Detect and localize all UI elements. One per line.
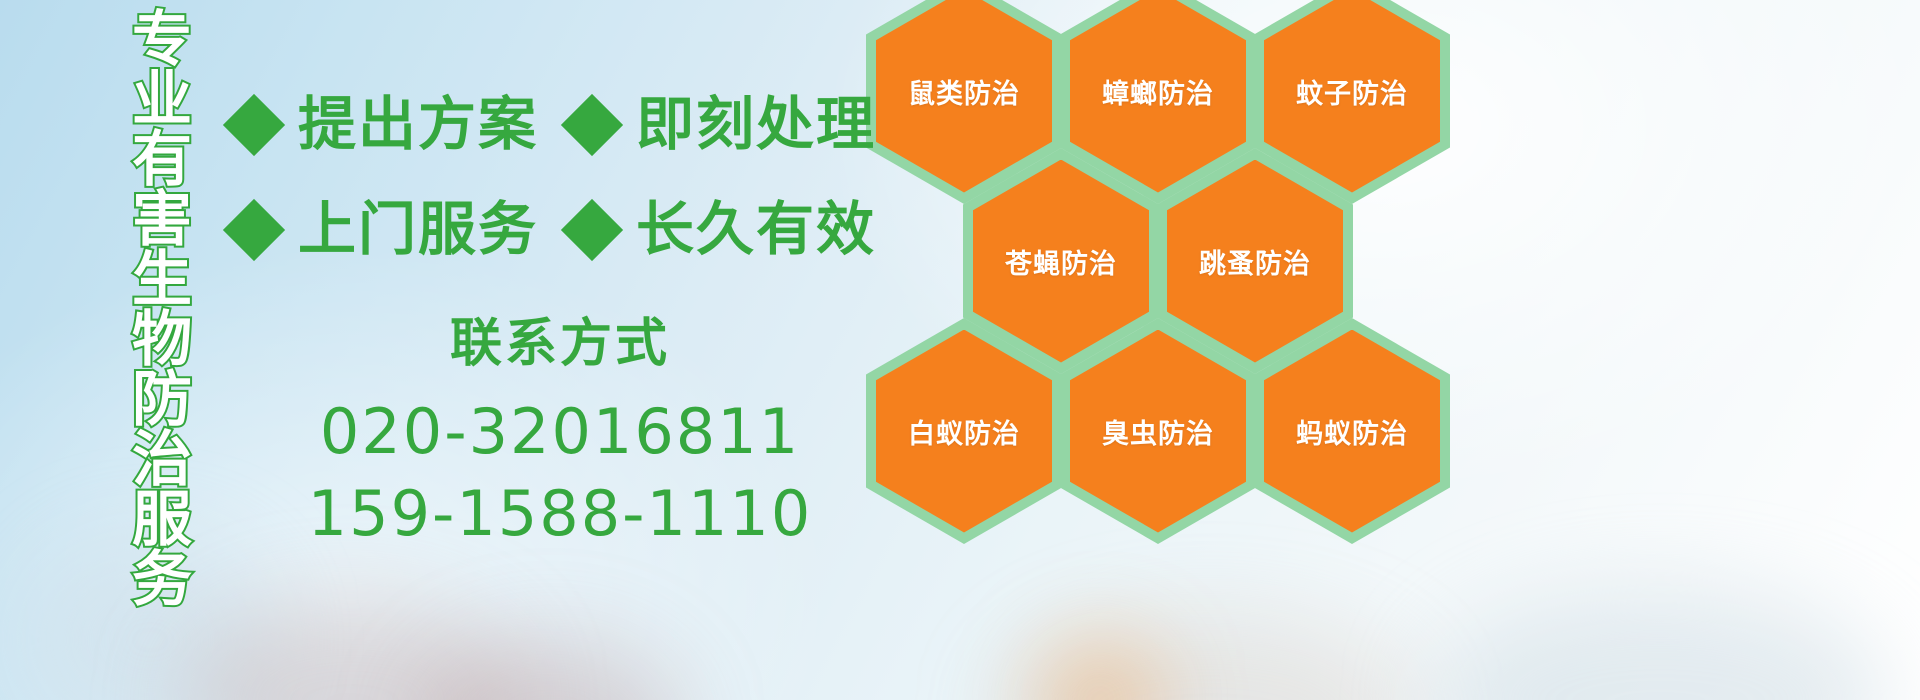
contact-phone-mobile[interactable]: 159-1588-1110 bbox=[300, 473, 820, 555]
service-hexagon-label: 苍蝇防治 bbox=[1005, 242, 1117, 281]
vertical-slogan-char: 生 bbox=[132, 250, 192, 310]
vertical-slogan-char: 务 bbox=[132, 550, 192, 610]
hexagon-inner: 鼠类防治 bbox=[876, 0, 1052, 193]
service-hexagon-label: 臭虫防治 bbox=[1102, 412, 1214, 451]
background-blur-blob bbox=[1430, 590, 1890, 700]
vertical-slogan-char: 专 bbox=[132, 10, 192, 70]
vertical-slogan-char: 物 bbox=[132, 310, 192, 370]
service-hexagon-label: 蚂蚁防治 bbox=[1296, 412, 1408, 451]
diamond-icon bbox=[561, 94, 623, 156]
diamond-icon bbox=[223, 94, 285, 156]
feature-label: 提出方案 bbox=[298, 95, 538, 156]
vertical-slogan-char: 服 bbox=[132, 490, 192, 550]
background-blur-blob bbox=[420, 640, 680, 700]
contact-block: 联系方式 020-32016811 159-1588-1110 bbox=[300, 312, 820, 555]
service-hexagon-label: 鼠类防治 bbox=[908, 72, 1020, 111]
feature-label: 即刻处理 bbox=[636, 95, 876, 156]
service-hexagon-label: 蚊子防治 bbox=[1296, 72, 1408, 111]
vertical-slogan-char: 有 bbox=[132, 130, 192, 190]
diamond-icon bbox=[561, 199, 623, 261]
feature-item-immediate-handling: 即刻处理 bbox=[570, 95, 876, 156]
feature-item-long-lasting: 长久有效 bbox=[570, 200, 876, 261]
contact-title: 联系方式 bbox=[300, 312, 820, 377]
feature-label: 上门服务 bbox=[298, 200, 538, 261]
feature-row: 上门服务 长久有效 bbox=[232, 200, 876, 261]
service-hexagon-label: 跳蚤防治 bbox=[1199, 242, 1311, 281]
background-blur-blob bbox=[180, 600, 520, 700]
vertical-slogan-char: 业 bbox=[132, 70, 192, 130]
diamond-icon bbox=[223, 199, 285, 261]
background-blur-blob bbox=[1000, 615, 1420, 700]
feature-item-propose-plan: 提出方案 bbox=[232, 95, 538, 156]
contact-phone-landline[interactable]: 020-32016811 bbox=[300, 391, 820, 473]
promo-banner: 专 业 有 害 生 物 防 治 服 务 提出方案 即刻处理 上门服务 长久有效 bbox=[0, 0, 1920, 700]
vertical-slogan: 专 业 有 害 生 物 防 治 服 务 bbox=[112, 10, 212, 570]
hexagon-inner: 蟑螂防治 bbox=[1070, 0, 1246, 193]
vertical-slogan-char: 害 bbox=[132, 190, 192, 250]
hexagon-inner: 臭虫防治 bbox=[1070, 330, 1246, 533]
service-hexagon-label: 白蚁防治 bbox=[908, 412, 1020, 451]
feature-item-onsite-service: 上门服务 bbox=[232, 200, 538, 261]
vertical-slogan-char: 防 bbox=[132, 370, 192, 430]
hexagon-inner: 跳蚤防治 bbox=[1167, 160, 1343, 363]
hexagon-inner: 蚂蚁防治 bbox=[1264, 330, 1440, 533]
feature-row: 提出方案 即刻处理 bbox=[232, 95, 876, 156]
service-hexagon-grid: 鼠类防治 蟑螂防治 蚊子防治 苍蝇防治 跳蚤防治 白蚁防治 bbox=[862, 0, 1462, 558]
hexagon-inner: 蚊子防治 bbox=[1264, 0, 1440, 193]
vertical-slogan-char: 治 bbox=[132, 430, 192, 490]
hexagon-inner: 白蚁防治 bbox=[876, 330, 1052, 533]
service-hexagon-label: 蟑螂防治 bbox=[1102, 72, 1214, 111]
feature-label: 长久有效 bbox=[636, 200, 876, 261]
background-blur-blob bbox=[1040, 640, 1160, 700]
hexagon-inner: 苍蝇防治 bbox=[973, 160, 1149, 363]
